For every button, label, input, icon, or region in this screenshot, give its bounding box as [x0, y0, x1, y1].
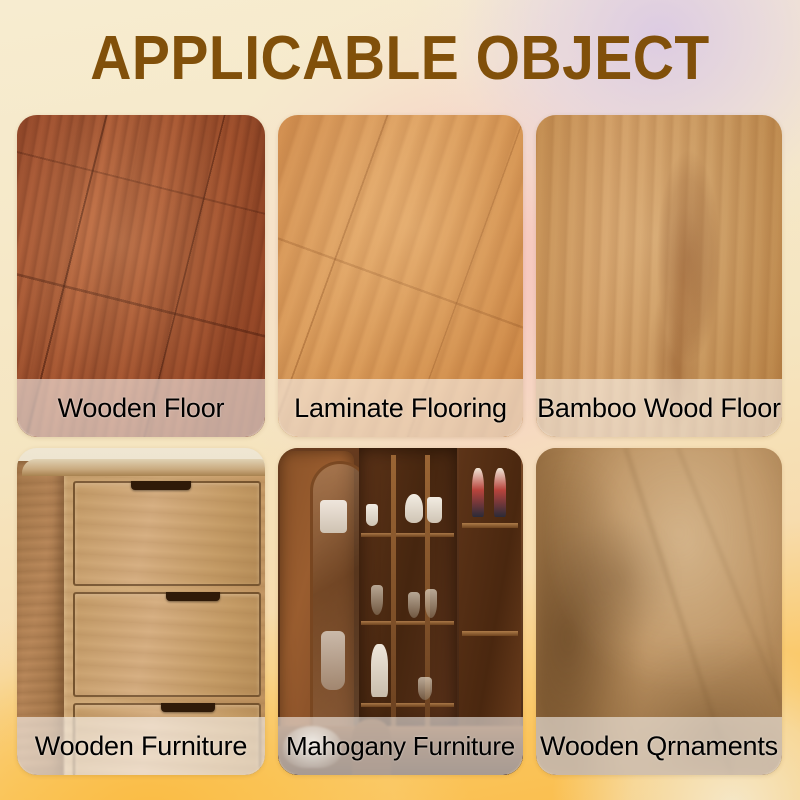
card-label-laminate-flooring: Laminate Flooring: [278, 379, 523, 437]
card-label-wooden-ornaments: Wooden Qrnaments: [536, 717, 782, 775]
mahogany-shelf-1: [361, 533, 454, 537]
applicable-object-grid: Wooden Floor Laminate Flooring Bamboo Wo…: [17, 115, 783, 775]
card-bamboo-wood-floor[interactable]: Bamboo Wood Floor: [536, 115, 782, 437]
mahogany-soldier-figurine-1: [472, 468, 484, 517]
furniture-top-surface: [22, 459, 265, 475]
card-wooden-furniture[interactable]: Wooden Furniture: [17, 448, 265, 775]
furniture-drawer-middle: [73, 592, 261, 697]
mahogany-right-shelf-plank-1: [462, 523, 518, 528]
page-title: APPLICABLE OBJECT: [32, 28, 768, 90]
furniture-drawer-top: [73, 481, 261, 586]
mahogany-shelf-3: [361, 703, 454, 707]
mahogany-porcelain-cup-1: [366, 504, 378, 527]
mahogany-glassware-2: [408, 592, 420, 618]
mahogany-right-shelf-unit: [459, 448, 520, 736]
card-wooden-floor[interactable]: Wooden Floor: [17, 115, 265, 437]
mahogany-right-shelf-plank-2: [462, 631, 518, 636]
furniture-handle-bottom: [161, 703, 216, 712]
mahogany-door-mullion-1: [391, 455, 396, 730]
mahogany-soldier-figurine-2: [494, 468, 506, 517]
mahogany-porcelain-cup-3: [427, 497, 442, 523]
mahogany-vase-upper: [320, 500, 347, 533]
furniture-handle-top: [131, 481, 191, 490]
card-wooden-ornaments[interactable]: Wooden Qrnaments: [536, 448, 782, 775]
mahogany-porcelain-cup-2: [405, 494, 422, 523]
card-label-bamboo-wood-floor: Bamboo Wood Floor: [536, 379, 782, 437]
furniture-handle-middle: [166, 592, 221, 601]
mahogany-glassware-4: [418, 677, 433, 700]
mahogany-shelf-2: [361, 621, 454, 625]
card-laminate-flooring[interactable]: Laminate Flooring: [278, 115, 523, 437]
applicable-object-poster: APPLICABLE OBJECT Wooden Floor Laminate …: [0, 0, 800, 800]
card-label-wooden-floor: Wooden Floor: [17, 379, 265, 437]
mahogany-porcelain-figurine: [371, 644, 388, 696]
mahogany-vase-lower: [321, 631, 346, 690]
card-mahogany-furniture[interactable]: Mahogany Furniture: [278, 448, 523, 775]
card-label-mahogany-furniture: Mahogany Furniture: [278, 717, 523, 775]
card-label-wooden-furniture: Wooden Furniture: [17, 717, 265, 775]
